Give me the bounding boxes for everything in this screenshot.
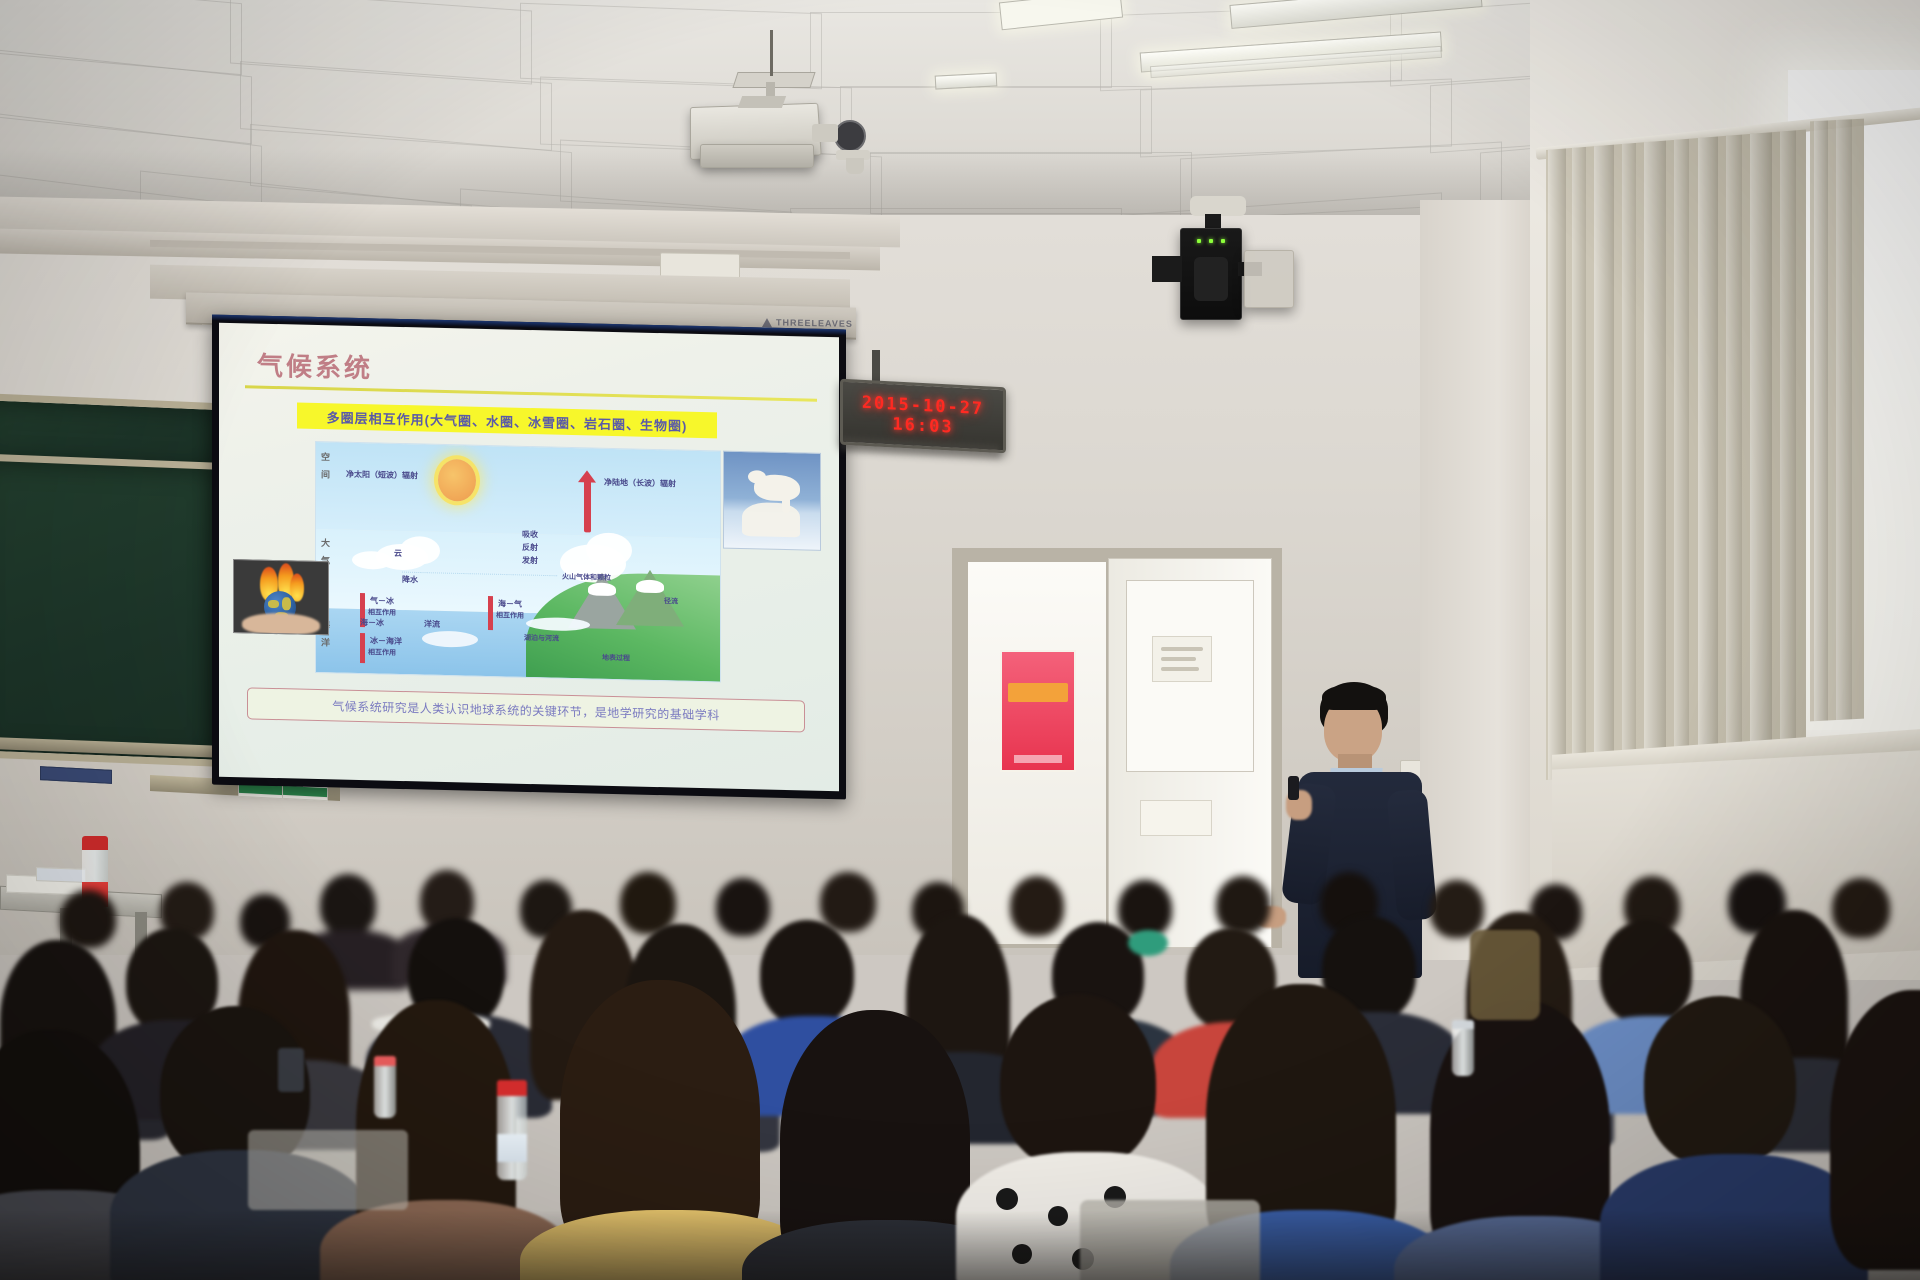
hand-shape bbox=[242, 612, 320, 635]
bear-leg bbox=[782, 495, 790, 513]
clock-time: 16:03 bbox=[892, 414, 953, 437]
diagram-label-precip: 降水 bbox=[402, 574, 418, 585]
poster-header-band bbox=[1008, 683, 1068, 702]
sea-air-arrow bbox=[488, 596, 493, 630]
slide-footer-note: 气候系统研究是人类认识地球系统的关键环节，是地学研究的基础学科 bbox=[247, 687, 805, 732]
cloud-shape bbox=[400, 536, 440, 565]
water-bottle-audience bbox=[1452, 1020, 1474, 1076]
diagram-label-solar: 净太阳（短波）辐射 bbox=[346, 469, 418, 482]
bottle-cap bbox=[497, 1080, 527, 1096]
window-curtain-right bbox=[1810, 119, 1864, 722]
diagram-label-runoff: 径流 bbox=[664, 596, 678, 606]
hair-tie bbox=[1128, 930, 1168, 956]
speaker-ceiling-mount bbox=[1190, 196, 1246, 216]
diagram-label-ice-ocean-2: 相互作用 bbox=[368, 647, 396, 658]
sun-icon bbox=[438, 459, 476, 502]
diagram-label-air-ice-2: 相互作用 bbox=[368, 607, 396, 618]
presentation-clicker bbox=[1288, 776, 1299, 800]
speaker-status-leds bbox=[1197, 239, 1225, 243]
window-curtains bbox=[1546, 130, 1806, 780]
projector-cable bbox=[770, 30, 773, 76]
bottle-label bbox=[497, 1134, 527, 1162]
diagram-label-emit: 发射 bbox=[522, 555, 538, 566]
ice-ocean-arrow bbox=[360, 633, 365, 663]
polar-bear-photo bbox=[723, 451, 821, 551]
diagram-label-current: 洋流 bbox=[424, 619, 440, 630]
diagram-sky-band bbox=[316, 442, 720, 539]
poster-footer-band bbox=[1014, 755, 1063, 763]
wall-notice-lower bbox=[1140, 800, 1212, 836]
diagram-label-terrestrial: 净陆地（长波）辐射 bbox=[604, 477, 676, 490]
diagram-label-volcano: 火山气体和颗粒 bbox=[562, 572, 611, 583]
three-diamond-icon bbox=[762, 318, 772, 327]
diagram-label-reflect: 反射 bbox=[522, 542, 538, 553]
presenter-hair-front bbox=[1322, 684, 1386, 710]
bottle-cap bbox=[1452, 1020, 1474, 1029]
diagram-label-absorb: 吸收 bbox=[522, 529, 538, 540]
ice-floe bbox=[742, 502, 800, 537]
arrow-head bbox=[578, 470, 596, 482]
diagram-label-ice-ocean: 冰－海洋 bbox=[370, 635, 402, 647]
diagram-label-cloud: 云 bbox=[394, 548, 402, 559]
speaker-driver bbox=[1194, 257, 1228, 301]
diagram-label-sea-air-2: 相互作用 bbox=[496, 610, 524, 621]
burning-globe-photo bbox=[233, 559, 329, 635]
slide-title: 气候系统 bbox=[257, 346, 373, 386]
audience-head bbox=[1600, 920, 1692, 1024]
slide-title-rule bbox=[245, 385, 817, 401]
bottle-cap bbox=[374, 1056, 396, 1066]
diagram-label-sea-ice: 海－冰 bbox=[360, 617, 384, 629]
speaker-adjacent-unit bbox=[1244, 250, 1294, 308]
audience-head bbox=[1644, 996, 1796, 1168]
projection-screen-frame: 气候系统 多圈层相互作用(大气圈、水圈、冰雪圈、岩石圈、生物圈) bbox=[212, 315, 846, 800]
lecture-hall-photo: THREELEAVES 气候系统 多圈层相互作用(大气圈、水圈、冰雪圈、岩石圈、… bbox=[0, 0, 1920, 1280]
blackboard bbox=[0, 453, 222, 767]
diagram-label-air-ice: 气－冰 bbox=[370, 595, 394, 607]
slide-banner: 多圈层相互作用(大气圈、水圈、冰雪圈、岩石圈、生物圈) bbox=[297, 403, 717, 439]
diagram-label-space: 空 间 bbox=[319, 452, 332, 482]
speaker-side-bracket bbox=[1152, 256, 1182, 282]
cloud-shape bbox=[586, 532, 632, 567]
polka-dot bbox=[996, 1188, 1018, 1210]
longwave-radiation-arrow bbox=[584, 476, 591, 532]
diagram-label-surface: 地表过程 bbox=[602, 653, 630, 664]
foreground-shadow bbox=[0, 1210, 1920, 1280]
chair-back bbox=[248, 1130, 408, 1210]
projector-lens bbox=[834, 120, 866, 152]
wall-speaker bbox=[1180, 228, 1242, 320]
phone-device bbox=[278, 1048, 304, 1092]
audience-head bbox=[1000, 994, 1156, 1170]
wall-notice bbox=[1152, 636, 1212, 682]
presentation-slide: 气候系统 多圈层相互作用(大气圈、水圈、冰雪圈、岩石圈、生物圈) bbox=[219, 323, 839, 792]
climate-system-diagram: ''''''''''''''''''''''''''''''''''''''''… bbox=[315, 441, 721, 683]
bottle-cap bbox=[82, 836, 108, 850]
polar-bear-head bbox=[748, 470, 766, 483]
red-corridor-poster bbox=[1000, 650, 1076, 772]
clock-mount bbox=[872, 350, 880, 384]
audience-head bbox=[760, 920, 854, 1026]
diagram-label-sea-air: 海－气 bbox=[498, 598, 522, 610]
backpack bbox=[1470, 930, 1540, 1020]
diagram-label-lakes: 湖泊与河流 bbox=[524, 633, 559, 644]
water-bottle-audience bbox=[374, 1056, 396, 1118]
water-bottle-audience bbox=[497, 1080, 527, 1180]
